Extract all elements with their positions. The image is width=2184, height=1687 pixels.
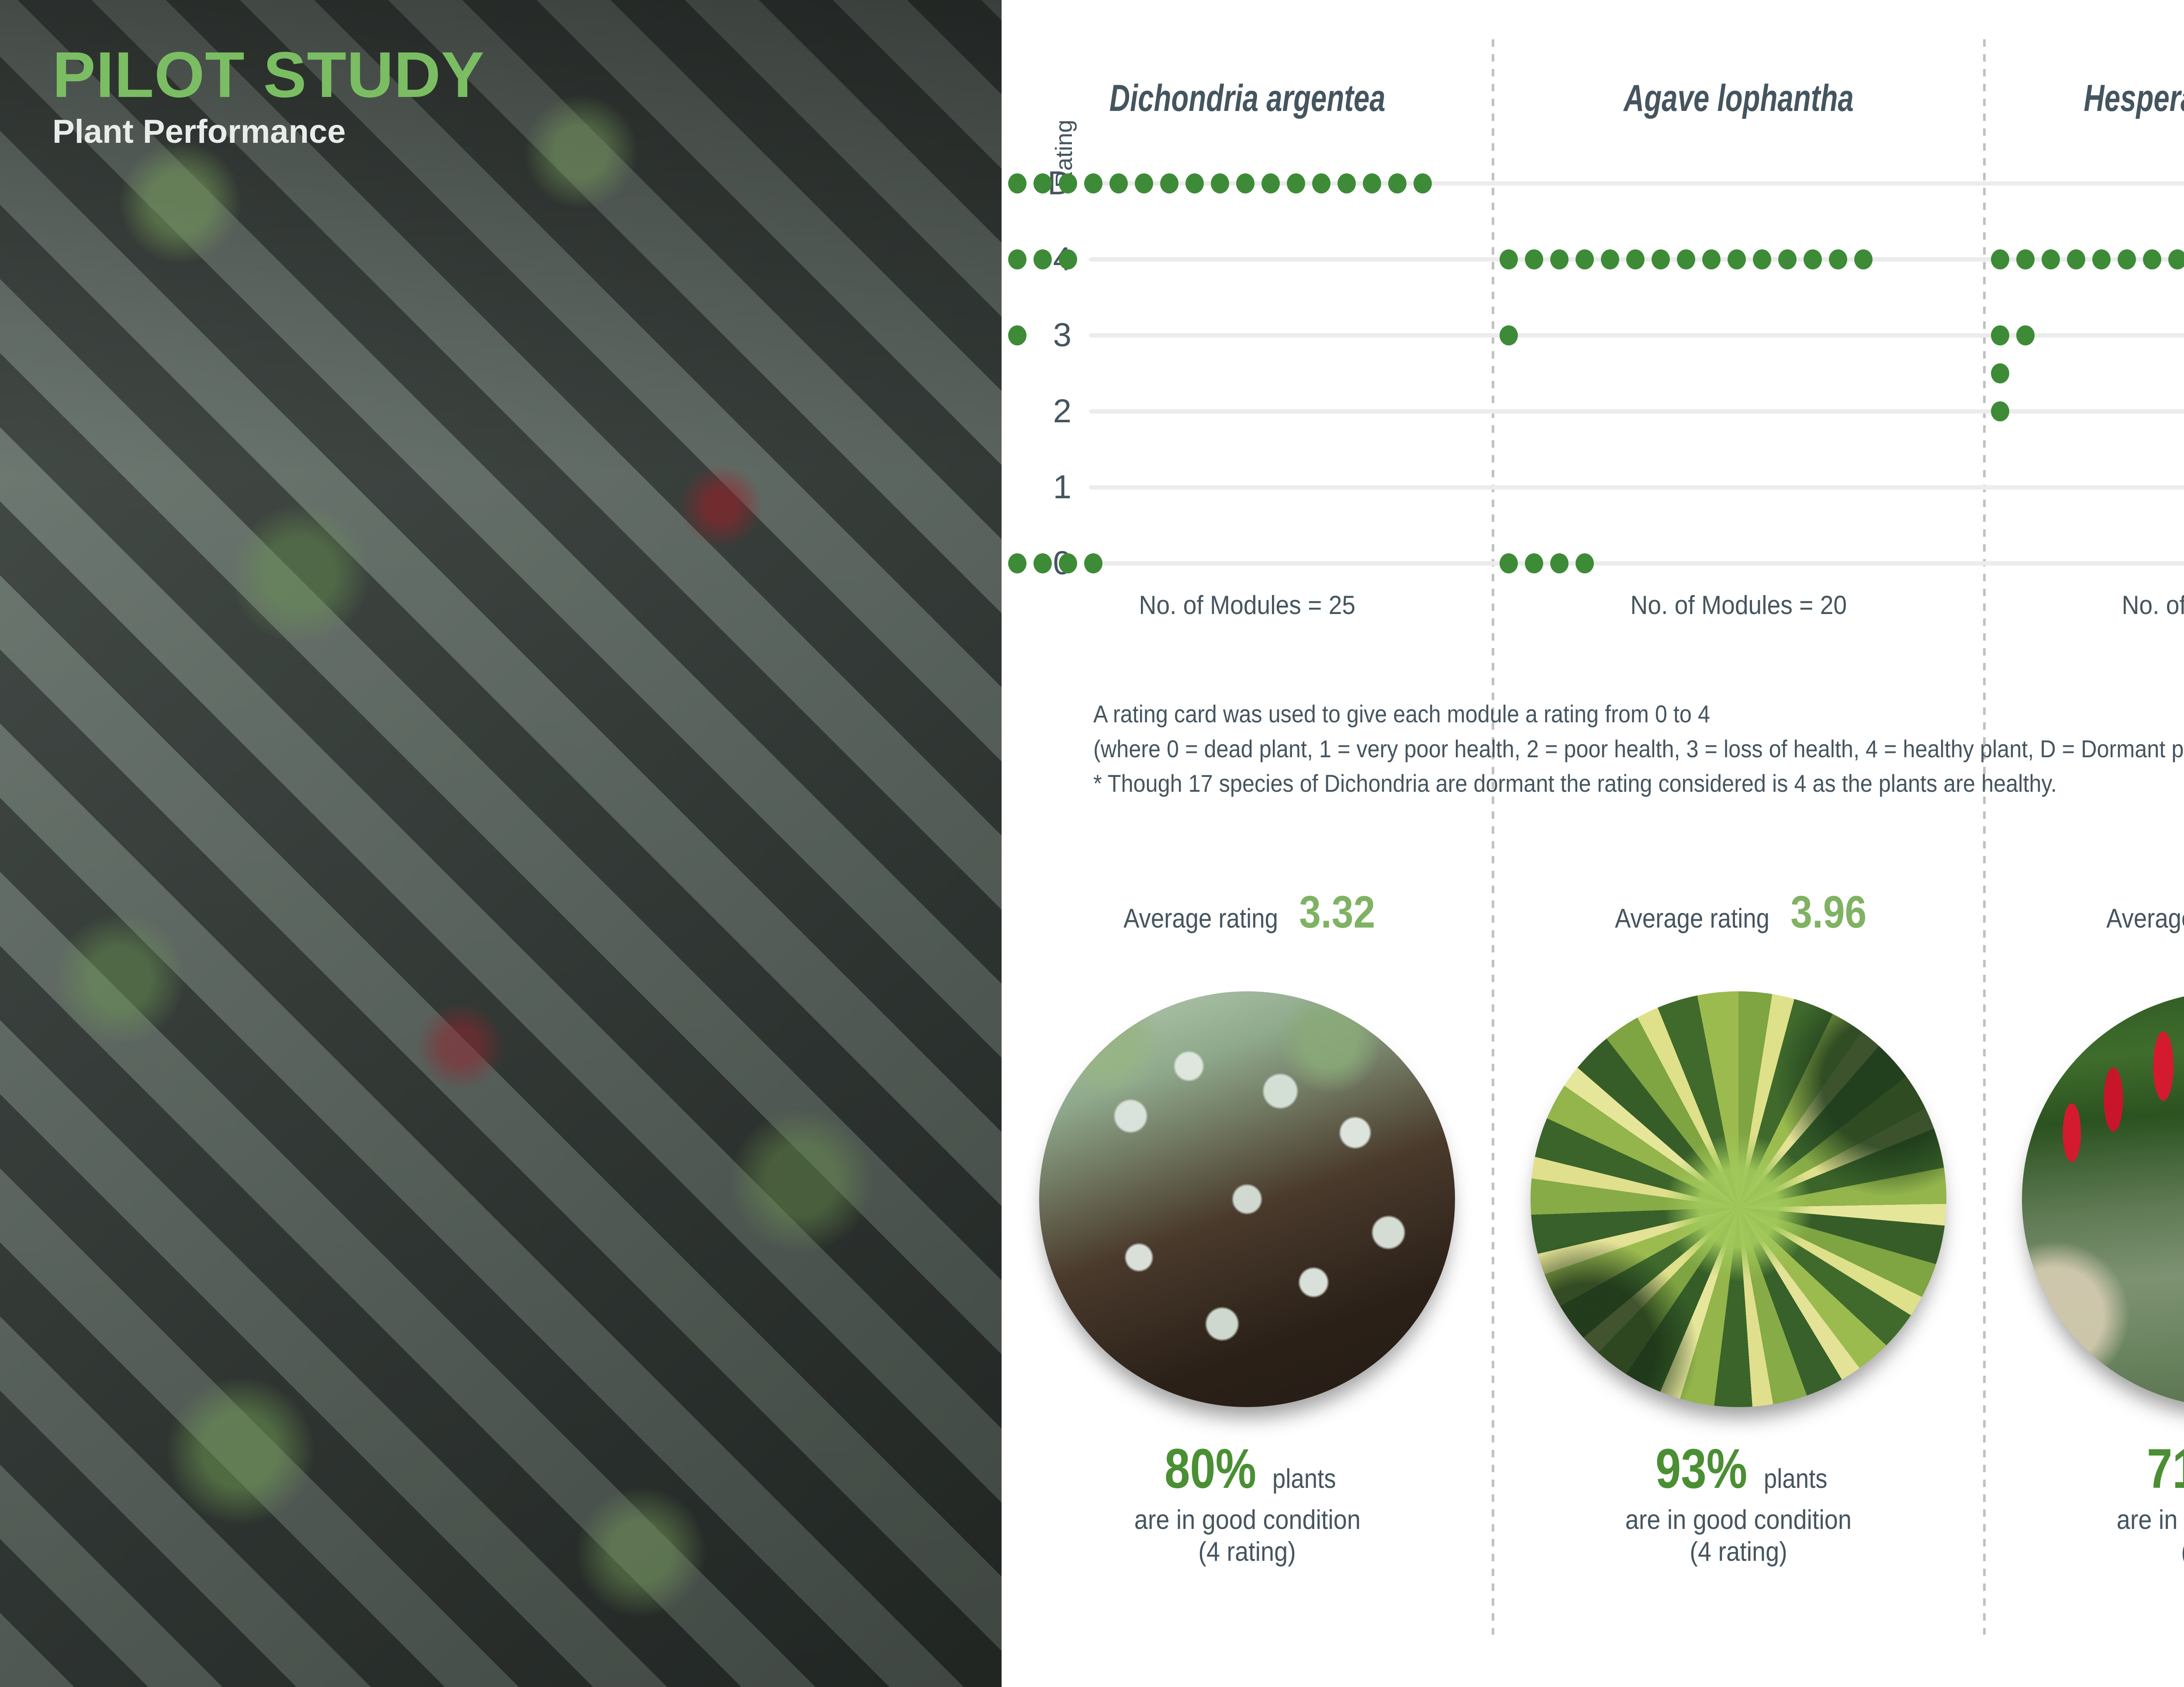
plant-photo-cell: [1002, 991, 1493, 1432]
rating-dot: [1550, 249, 1569, 269]
rating-dot: [1033, 249, 1052, 269]
rating-dot: [1804, 249, 1822, 269]
page-subtitle: Plant Performance: [52, 115, 484, 148]
rating-dot: [1033, 173, 1052, 193]
rating-dot: [1059, 553, 1077, 573]
average-rating-cell: Average rating3.96: [1493, 887, 1984, 952]
percent-value-dichondria-argentea: 80%: [1165, 1441, 1256, 1497]
module-count-cell: No. of Modules = 14: [1984, 585, 2184, 624]
rating-dot: [1991, 401, 2009, 421]
rating-dot: [2016, 325, 2035, 345]
rating-dot: [2016, 249, 2035, 269]
dichondria-argentea-photo: [1039, 991, 1455, 1407]
rating-dot: [1135, 173, 1153, 193]
rating-dot: [1059, 173, 1077, 193]
rating-dot: [1854, 249, 1873, 269]
rating-dot: [2092, 249, 2111, 269]
percent-caption-line-2: (4 rating): [1199, 1536, 1296, 1568]
rating-dot: [1702, 249, 1721, 269]
rating-dot: [1991, 325, 2009, 345]
rating-dot: [1008, 553, 1026, 573]
rating-dot-plot: D43210: [1002, 166, 2184, 603]
percent-stats-row: 80%plants are in good condition (4 ratin…: [1002, 1441, 2184, 1651]
rating-dot: [1829, 249, 1847, 269]
percent-stat-cell: 93%plants are in good condition (4 ratin…: [1493, 1441, 1984, 1651]
rating-dot: [1550, 553, 1569, 573]
rating-legend-notes: A rating card was used to give each modu…: [1093, 697, 2184, 801]
plant-photo-row: [1002, 991, 2184, 1432]
rating-dot: [1084, 173, 1102, 193]
average-rating-label: Average rating: [1615, 903, 1769, 934]
rating-dot: [1059, 249, 1077, 269]
rating-dot: [1525, 553, 1543, 573]
rating-dot: [1287, 173, 1305, 193]
percent-caption-line-1: are in good condition: [2117, 1504, 2184, 1536]
rating-dot: [1363, 173, 1381, 193]
percent-value-hesperaloe-parviflora: 71%: [2147, 1441, 2184, 1497]
hesperaloe-parviflora-photo: [2022, 991, 2184, 1407]
percent-stat-top: 71%plants: [2137, 1441, 2184, 1497]
rating-dot: [2042, 249, 2060, 269]
rating-dot: [1576, 249, 1594, 269]
rating-dot: [2067, 249, 2085, 269]
agave-lophantha-photo: [1531, 991, 1946, 1407]
average-rating-label: Average rating: [2106, 903, 2184, 934]
note-line-1: A rating card was used to give each modu…: [1093, 697, 2184, 731]
rating-dot: [1033, 553, 1052, 573]
species-header-row: Dichondria argentea Agave lophantha Hesp…: [1002, 66, 2184, 131]
rating-dot: [1160, 173, 1178, 193]
rating-dot: [1991, 249, 2009, 269]
rating-dot: [1388, 173, 1406, 193]
rating-dot: [1728, 249, 1746, 269]
rating-dot: [2143, 249, 2161, 269]
percent-caption-line-1: are in good condition: [1134, 1504, 1360, 1536]
gridline: [1089, 409, 2184, 414]
plant-photo-cell: [1493, 991, 1984, 1432]
infographic-page: PILOT STUDY Plant Performance Dichondria…: [0, 0, 2184, 1687]
percent-stat-top: 80%plants: [1154, 1441, 1341, 1497]
rating-dot: [1211, 173, 1229, 193]
module-count-cell: No. of Modules = 20: [1493, 585, 1984, 624]
percent-unit: plants: [1272, 1463, 1336, 1494]
rating-dot: [1008, 173, 1026, 193]
rating-dot: [1677, 249, 1695, 269]
module-count-dichondria-argentea: No. of Modules = 25: [1139, 590, 1356, 620]
page-title: PILOT STUDY: [52, 43, 484, 107]
percent-caption-line-2: (4 rating): [2181, 1536, 2184, 1568]
percent-stat-cell: 71%plants are in good condition (4 ratin…: [1984, 1441, 2184, 1651]
species-name-agave-lophantha: Agave lophantha: [1624, 77, 1854, 120]
module-count-cell: No. of Modules = 25: [1002, 585, 1493, 624]
species-header-cell: Hesperaloe parviflora: [1984, 66, 2184, 131]
rating-dot: [2118, 249, 2136, 269]
rating-dot: [1500, 325, 1518, 345]
rating-dot: [1261, 173, 1280, 193]
rating-dot: [1008, 249, 1026, 269]
average-rating-value-agave-lophantha: 3.96: [1790, 887, 1866, 938]
rating-dot: [1753, 249, 1771, 269]
rating-dot: [1652, 249, 1670, 269]
rating-dot: [1500, 249, 1518, 269]
rating-dot: [1109, 173, 1128, 193]
plant-photo-cell: [1984, 991, 2184, 1432]
y-axis-tick-3: 3: [1032, 319, 1071, 352]
content-panel: Dichondria argentea Agave lophantha Hesp…: [1002, 0, 2184, 1687]
average-rating-row: Average rating3.32 Average rating3.96 Av…: [1002, 887, 2184, 952]
rating-dot: [1185, 173, 1204, 193]
green-wall-modules-photo: [0, 0, 1002, 1687]
module-count-agave-lophantha: No. of Modules = 20: [1630, 590, 1847, 620]
average-rating-cell: Average rating3.32: [1002, 887, 1493, 952]
module-count-row: No. of Modules = 25 No. of Modules = 20 …: [1002, 585, 2184, 624]
rating-dot: [1008, 325, 1026, 345]
module-count-hesperaloe-parviflora: No. of Modules = 14: [2122, 590, 2184, 620]
note-line-3: * Though 17 species of Dichondria are do…: [1093, 766, 2184, 801]
percent-caption-line-1: are in good condition: [1625, 1504, 1852, 1536]
average-rating-value-dichondria-argentea: 3.32: [1299, 887, 1375, 938]
percent-unit: plants: [1763, 1463, 1827, 1494]
rating-dot: [1626, 249, 1645, 269]
rating-dot: [1500, 553, 1518, 573]
note-line-2: (where 0 = dead plant, 1 = very poor hea…: [1093, 731, 2184, 766]
rating-dot: [1337, 173, 1356, 193]
rating-dot: [2168, 249, 2184, 269]
species-name-hesperaloe-parviflora: Hesperaloe parviflora: [2084, 77, 2184, 120]
gridline: [1089, 485, 2184, 490]
species-name-dichondria-argentea: Dichondria argentea: [1109, 77, 1385, 120]
rating-dot: [1084, 553, 1102, 573]
percent-stat-top: 93%plants: [1645, 1441, 1832, 1497]
average-rating-label: Average rating: [1123, 903, 1278, 934]
rating-dot: [1576, 553, 1594, 573]
rating-dot: [1778, 249, 1797, 269]
y-axis-tick-2: 2: [1032, 395, 1071, 428]
hero-panel: PILOT STUDY Plant Performance: [0, 0, 1002, 1687]
rating-dot: [1525, 249, 1543, 269]
y-axis-tick-1: 1: [1032, 471, 1071, 504]
rating-dot: [1236, 173, 1254, 193]
percent-value-agave-lophantha: 93%: [1655, 1441, 1747, 1497]
rating-dot: [1991, 363, 2009, 383]
hero-title-block: PILOT STUDY Plant Performance: [52, 43, 484, 148]
gridline: [1089, 561, 2184, 566]
percent-stat-cell: 80%plants are in good condition (4 ratin…: [1002, 1441, 1493, 1651]
rating-dot: [1312, 173, 1330, 193]
average-rating-cell: Average rating3.64: [1984, 887, 2184, 952]
percent-caption-line-2: (4 rating): [1690, 1536, 1787, 1568]
rating-dot: [1601, 249, 1619, 269]
species-header-cell: Agave lophantha: [1493, 66, 1984, 131]
rating-dot: [1413, 173, 1432, 193]
